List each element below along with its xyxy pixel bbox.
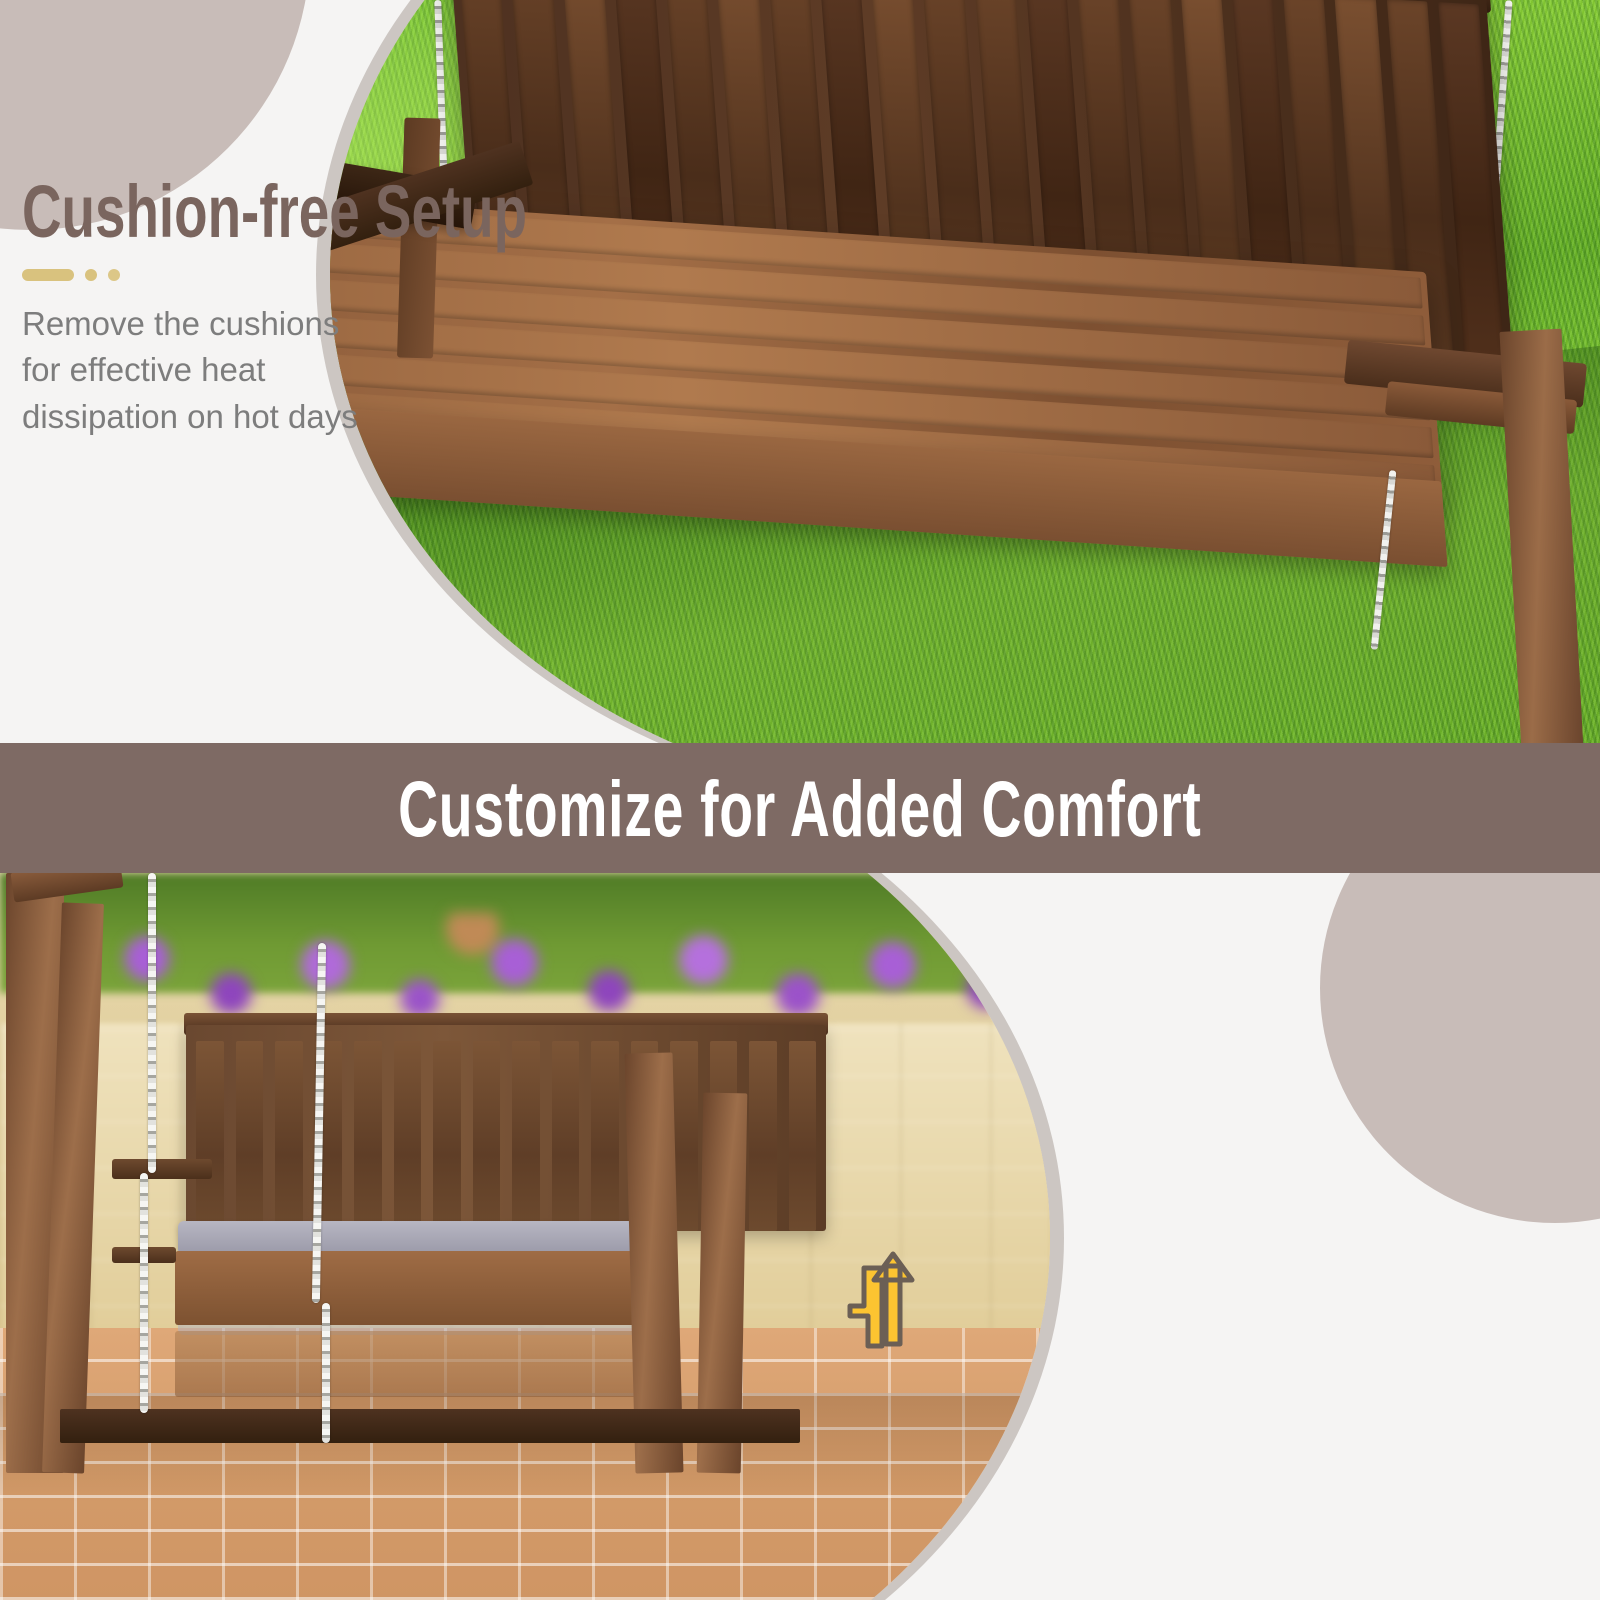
top-feature-headline: Cushion-free Setup bbox=[22, 176, 466, 249]
divider-dot bbox=[85, 269, 97, 281]
decorative-blob-bottom-right bbox=[1320, 873, 1600, 1223]
swing-chain bbox=[140, 1173, 148, 1413]
bench-armrest bbox=[112, 1159, 212, 1179]
top-feature-text-block: Cushion-free Setup Remove the cushions f… bbox=[22, 176, 622, 441]
body-line: dissipation on hot days bbox=[22, 394, 622, 441]
swing-chain bbox=[148, 873, 156, 1173]
top-feature-section: Cushion-free Setup Remove the cushions f… bbox=[0, 0, 1600, 743]
bench-seat-upper-position bbox=[175, 1251, 655, 1325]
divider-dot bbox=[108, 269, 120, 281]
section-banner: Customize for Added Comfort bbox=[0, 743, 1600, 873]
frame-bottom-rail bbox=[60, 1409, 800, 1443]
swing-chain bbox=[322, 1303, 330, 1443]
body-line: Remove the cushions bbox=[22, 301, 622, 348]
infographic-stage: Cushion-free Setup Remove the cushions f… bbox=[0, 0, 1600, 1600]
seat-cushion-upper-position bbox=[178, 1221, 648, 1255]
banner-title: Customize for Added Comfort bbox=[398, 769, 1201, 848]
dash-dot-dot-divider-icon bbox=[22, 269, 622, 281]
body-line: for effective heat bbox=[22, 347, 622, 394]
divider-dash bbox=[22, 269, 74, 281]
top-feature-body: Remove the cushions for effective heat d… bbox=[22, 301, 622, 442]
bottom-feature-section: Adjustable Seat Height Set to your likin… bbox=[0, 873, 1600, 1600]
up-down-height-arrows-icon bbox=[840, 1246, 926, 1366]
bench-seat-lower-position bbox=[175, 1331, 655, 1397]
adjustable-seat-height-photo bbox=[0, 873, 1050, 1600]
